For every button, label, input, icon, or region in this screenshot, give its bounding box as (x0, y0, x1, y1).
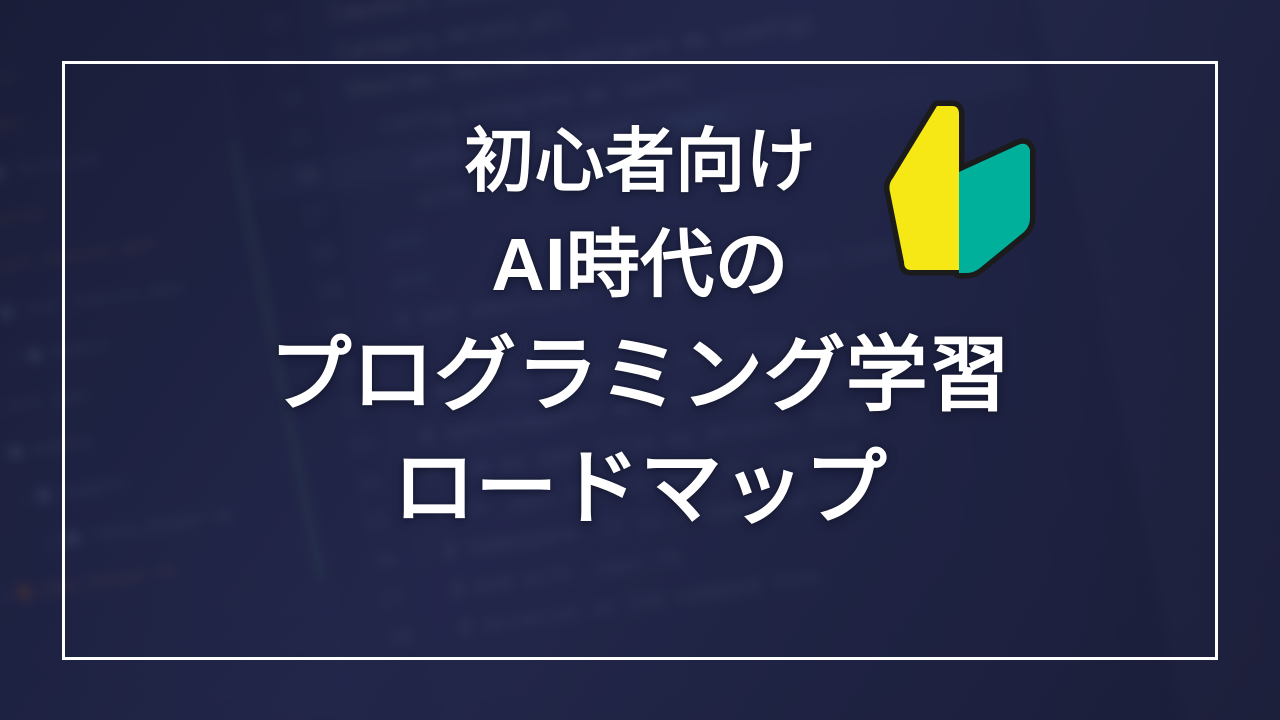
headline-line-1: 初心者向け (0, 120, 1280, 203)
headline-line-2: AI時代の (0, 221, 1280, 308)
headline-line-3: プログラミング学習 (0, 328, 1280, 425)
headline-block: 初心者向け AI時代の プログラミング学習 ロードマップ (0, 120, 1280, 537)
thumbnail-canvas: configdbspecliblogpublicspecfactoriesfea… (0, 0, 1280, 720)
shoshinsha-beginner-mark-icon (880, 100, 1040, 280)
headline-line-4: ロードマップ (0, 441, 1280, 538)
